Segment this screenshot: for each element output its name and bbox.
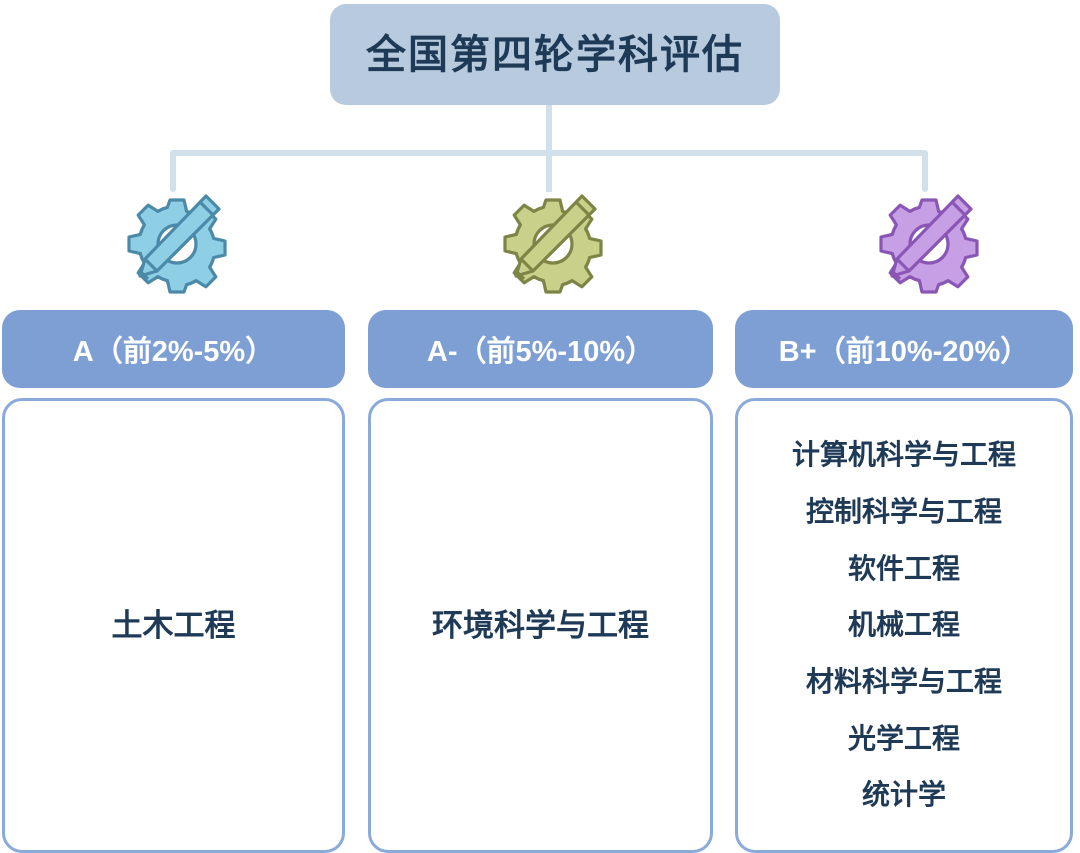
gear-pencil-icon-column-3 [865, 186, 985, 296]
connector-stem [546, 105, 552, 155]
subject-item: 统计学 [862, 779, 946, 811]
gear-pencil-icon-column-1 [113, 186, 233, 296]
gear-pencil-icon [494, 188, 604, 294]
subject-item: 计算机科学与工程 [792, 439, 1016, 471]
subject-item: 控制科学与工程 [806, 496, 1002, 528]
subject-list-a: 土木工程 [2, 398, 345, 853]
grade-label: A-（前5%-10%） [427, 328, 654, 370]
grade-header-a-minus[interactable]: A-（前5%-10%） [368, 310, 713, 388]
subject-list-a-minus: 环境科学与工程 [368, 398, 713, 853]
subject-item: 材料科学与工程 [806, 666, 1002, 698]
subject-item: 软件工程 [848, 553, 960, 585]
grade-column-2: A-（前5%-10%） 环境科学与工程 [368, 310, 713, 388]
subject-item: 光学工程 [848, 723, 960, 755]
grade-header-b-plus[interactable]: B+（前10%-20%） [735, 310, 1073, 388]
subject-item: 机械工程 [848, 609, 960, 641]
subject-list-b-plus: 计算机科学与工程 控制科学与工程 软件工程 机械工程 材料科学与工程 光学工程 … [735, 398, 1073, 853]
diagram-title-box: 全国第四轮学科评估 [330, 4, 780, 105]
diagram-canvas: 全国第四轮学科评估 [0, 0, 1080, 849]
grade-label: A（前2%-5%） [73, 328, 274, 370]
grade-label: B+（前10%-20%） [779, 328, 1030, 370]
grade-header-a[interactable]: A（前2%-5%） [2, 310, 345, 388]
gear-pencil-icon-column-2 [489, 186, 609, 296]
page-title: 全国第四轮学科评估 [366, 35, 744, 75]
gear-pencil-icon [870, 188, 980, 294]
subject-item: 土木工程 [112, 608, 236, 644]
icon-row [0, 186, 1080, 296]
gear-pencil-icon [118, 188, 228, 294]
grade-column-1: A（前2%-5%） 土木工程 [2, 310, 345, 388]
grade-column-3: B+（前10%-20%） 计算机科学与工程 控制科学与工程 软件工程 机械工程 … [735, 310, 1073, 388]
subject-item: 环境科学与工程 [432, 608, 649, 644]
